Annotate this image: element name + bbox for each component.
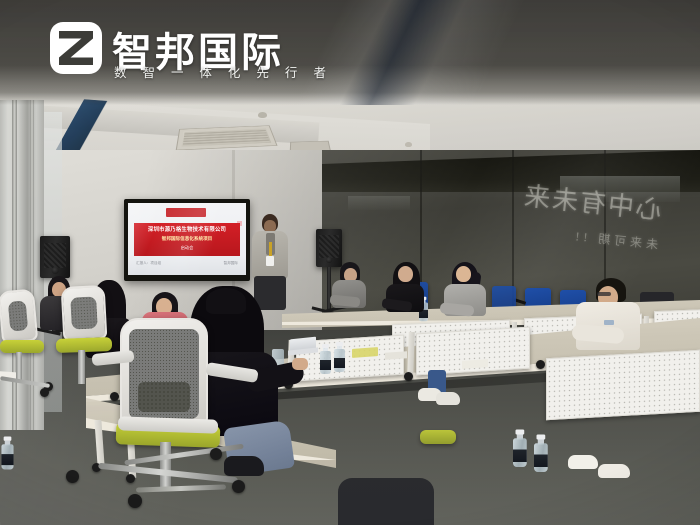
water-bottle[interactable]	[534, 435, 548, 473]
screen-glare	[128, 203, 246, 275]
foreground-attendee-head	[206, 288, 246, 314]
table-caster	[404, 372, 413, 381]
table-caster	[126, 474, 135, 483]
chair-caster	[110, 392, 119, 401]
chair-caster	[210, 448, 222, 460]
brand-overlay-diagonal	[0, 0, 700, 105]
speaker-stand-pole	[327, 267, 331, 311]
office-chair-gas-lift	[160, 442, 171, 488]
chair-lumbar-mesh	[138, 382, 190, 412]
chest-logo	[604, 320, 614, 325]
attendee-head	[398, 266, 413, 282]
office-chair-post	[78, 350, 85, 384]
shoe	[568, 455, 598, 469]
z-logo-icon	[50, 22, 102, 74]
mesh-office-chair-back[interactable]	[0, 289, 38, 344]
office-chair-seat[interactable]	[0, 340, 44, 353]
water-bottle[interactable]	[1, 437, 13, 470]
company-tagline: 数 智 一 体 化 先 行 者	[114, 62, 332, 81]
water-bottle[interactable]	[334, 342, 345, 372]
chair-caster	[66, 470, 79, 483]
shoe	[224, 456, 264, 476]
water-bottle[interactable]	[320, 344, 331, 374]
chair-caster	[40, 388, 49, 397]
chair-caster	[128, 494, 142, 508]
table-modesty-panel	[546, 350, 700, 421]
glasses-icon	[597, 292, 611, 296]
shoe	[436, 392, 460, 405]
attendee-head	[456, 266, 471, 282]
mesh-office-chair-back[interactable]	[61, 285, 108, 341]
smoke-detector-icon	[258, 112, 267, 118]
water-bottle[interactable]	[513, 430, 527, 468]
badge-icon	[266, 256, 274, 266]
chair-caster	[232, 480, 245, 493]
pa-speaker-icon	[40, 236, 70, 278]
office-chair-seat[interactable]	[420, 430, 456, 444]
notebook[interactable]	[352, 347, 378, 358]
foreground-attendee-hand	[292, 358, 308, 370]
mesh-office-chair-back[interactable]	[120, 318, 208, 430]
office-chair-post	[16, 352, 22, 382]
pa-speaker-icon	[316, 229, 342, 267]
ceiling-sprinkler-icon	[405, 142, 412, 147]
meeting-room-photo: 心中有未来 未来可期 !! 深圳市源乃格生物技术有限公司 智邦国际信息化系统项目…	[0, 0, 700, 525]
shoe	[598, 464, 630, 478]
foreground-chair-back[interactable]	[338, 478, 434, 525]
table-caster	[536, 360, 545, 369]
